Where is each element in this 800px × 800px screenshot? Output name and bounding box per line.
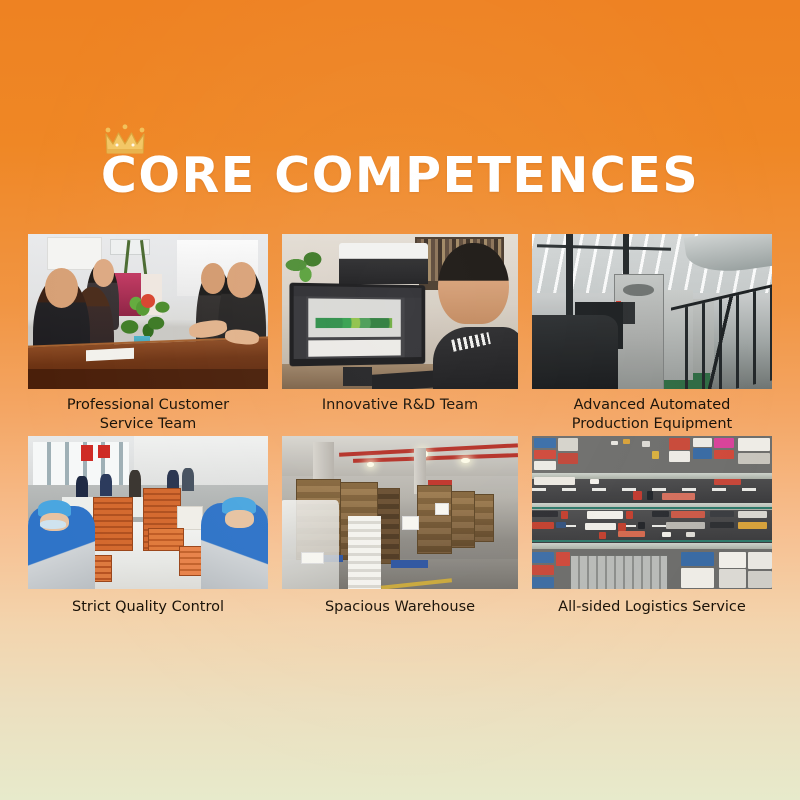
person-right-back-head — [201, 263, 225, 294]
caption-innovative-rd-team: Innovative R&D Team — [282, 396, 518, 415]
shipping-container — [532, 565, 554, 576]
pallet-label — [435, 503, 449, 514]
shipping-container — [693, 438, 712, 447]
photo-innovative-rd-team[interactable] — [282, 234, 518, 389]
person-background-head — [93, 259, 115, 287]
truck-trailer — [666, 522, 704, 529]
shipping-container — [738, 438, 769, 452]
caption-all-sided-logistics-service: All-sided Logistics Service — [532, 598, 772, 617]
truck-cab — [626, 511, 633, 519]
photo-strict-quality-control[interactable] — [28, 436, 268, 589]
box-stack — [93, 497, 133, 551]
competence-card-all-sided-logistics-service[interactable]: All-sided Logistics Service — [532, 436, 772, 617]
truck-chassis — [638, 522, 645, 530]
title-inner: CORE COMPETENCES — [101, 150, 699, 203]
shipping-container — [714, 450, 733, 459]
shipping-container — [681, 552, 715, 566]
pallet-label — [301, 552, 324, 563]
caption-professional-customer-service-team: Professional Customer Service Team — [28, 396, 268, 433]
competence-card-spacious-warehouse[interactable]: Spacious Warehouse — [282, 436, 518, 617]
software-bottom-panel — [309, 340, 401, 357]
pallet-label — [402, 516, 418, 530]
lane-marking — [532, 525, 772, 527]
red-banner — [81, 445, 93, 460]
photo-professional-customer-service-team[interactable] — [28, 234, 268, 389]
warehouse-building-roof — [570, 555, 668, 589]
truck-trailer — [738, 522, 767, 529]
caption-advanced-automated-production-equipment: Advanced Automated Production Equipment — [532, 396, 772, 433]
software-right-panel — [405, 297, 422, 357]
photo-spacious-warehouse[interactable] — [282, 436, 518, 589]
background-worker — [129, 470, 141, 498]
truck-trailer — [710, 522, 734, 528]
carton-pallet — [417, 485, 452, 554]
core-competences-poster: CORE COMPETENCES — [0, 0, 800, 800]
truck-chassis — [647, 491, 653, 500]
parked-car — [652, 451, 659, 459]
software-canvas — [309, 298, 401, 337]
blue-pallet — [391, 560, 429, 568]
shipping-container — [558, 453, 577, 464]
software-left-panel — [294, 296, 306, 359]
office-plant — [282, 246, 329, 283]
page-title: CORE COMPETENCES — [101, 150, 699, 203]
truck-trailer — [532, 511, 558, 517]
monitor-screen — [294, 286, 422, 359]
shipping-container — [748, 552, 772, 569]
shipping-container — [738, 453, 769, 464]
truck-trailer — [585, 523, 616, 530]
lane-marking — [532, 488, 772, 490]
truck-trailer — [587, 511, 623, 519]
shipping-container — [681, 568, 715, 588]
shipping-container — [693, 448, 712, 459]
designer-head — [438, 243, 509, 324]
white-carton — [177, 506, 203, 529]
truck-cab — [561, 511, 568, 519]
caption-strict-quality-control: Strict Quality Control — [28, 598, 268, 617]
design-icons — [316, 318, 393, 328]
truck-trailer — [671, 511, 705, 518]
shipping-container — [534, 438, 556, 449]
shipping-container — [532, 552, 554, 563]
shipping-container — [534, 461, 556, 470]
shrink-wrapped-pallet — [282, 500, 339, 589]
background-worker — [182, 468, 194, 491]
shipping-container — [669, 438, 691, 450]
press-delivery-section — [532, 315, 618, 389]
truck-cab — [633, 491, 643, 500]
truck-trailer — [710, 511, 734, 517]
workshop-wall — [134, 436, 268, 488]
photo-advanced-automated-production-equipment[interactable] — [532, 234, 772, 389]
truck-trailer — [738, 511, 767, 518]
software-toolbar — [294, 286, 422, 298]
truck-trailer — [532, 522, 554, 529]
truck-trailer — [652, 511, 669, 517]
shipping-container — [534, 450, 556, 459]
shipping-container — [669, 451, 691, 462]
truck-trailer — [714, 479, 740, 485]
conference-table-edge — [28, 369, 268, 389]
background-worker — [100, 474, 112, 495]
road-divider — [532, 543, 772, 549]
stacked-cartons — [348, 516, 381, 589]
truck-cab — [599, 532, 606, 538]
car — [686, 532, 696, 537]
shipping-container — [532, 577, 554, 588]
shipping-container — [719, 569, 745, 587]
shipping-container — [714, 438, 733, 449]
truck-trailer — [662, 493, 696, 500]
green-median — [532, 540, 772, 542]
title-block: CORE COMPETENCES — [0, 150, 800, 203]
parked-car — [623, 439, 630, 444]
red-banner — [98, 445, 110, 457]
shipping-container — [719, 552, 745, 567]
competence-card-innovative-rd-team[interactable]: Innovative R&D Team — [282, 234, 518, 433]
car — [590, 479, 600, 484]
ceiling-lamp — [367, 462, 374, 467]
printer — [339, 243, 429, 283]
caption-spacious-warehouse: Spacious Warehouse — [282, 598, 518, 617]
documents-on-table — [86, 347, 134, 360]
monitor-stand — [343, 367, 371, 386]
computer-monitor — [290, 282, 426, 365]
worker-face-mask — [40, 520, 66, 529]
green-median — [532, 507, 772, 509]
parked-car — [611, 441, 618, 446]
competences-grid: Professional Customer Service Team — [28, 234, 772, 617]
car — [662, 532, 672, 537]
competence-card-advanced-automated-production-equipment[interactable]: Advanced Automated Production Equipment — [532, 234, 772, 433]
truck-cab — [556, 522, 566, 528]
worker-face — [225, 510, 254, 528]
person-right-front-head — [227, 262, 256, 298]
truck-trailer — [534, 477, 575, 485]
shipping-container — [748, 571, 772, 588]
parked-car — [642, 441, 649, 447]
background-worker — [76, 476, 88, 497]
shipping-container — [558, 438, 577, 452]
competence-card-strict-quality-control[interactable]: Strict Quality Control — [28, 436, 268, 617]
truck-cab — [618, 523, 625, 531]
shipping-container — [556, 552, 570, 566]
truck-trailer — [618, 531, 644, 537]
ceiling-lamp — [461, 458, 469, 463]
photo-all-sided-logistics-service[interactable] — [532, 436, 772, 589]
competence-card-professional-customer-service-team[interactable]: Professional Customer Service Team — [28, 234, 268, 433]
